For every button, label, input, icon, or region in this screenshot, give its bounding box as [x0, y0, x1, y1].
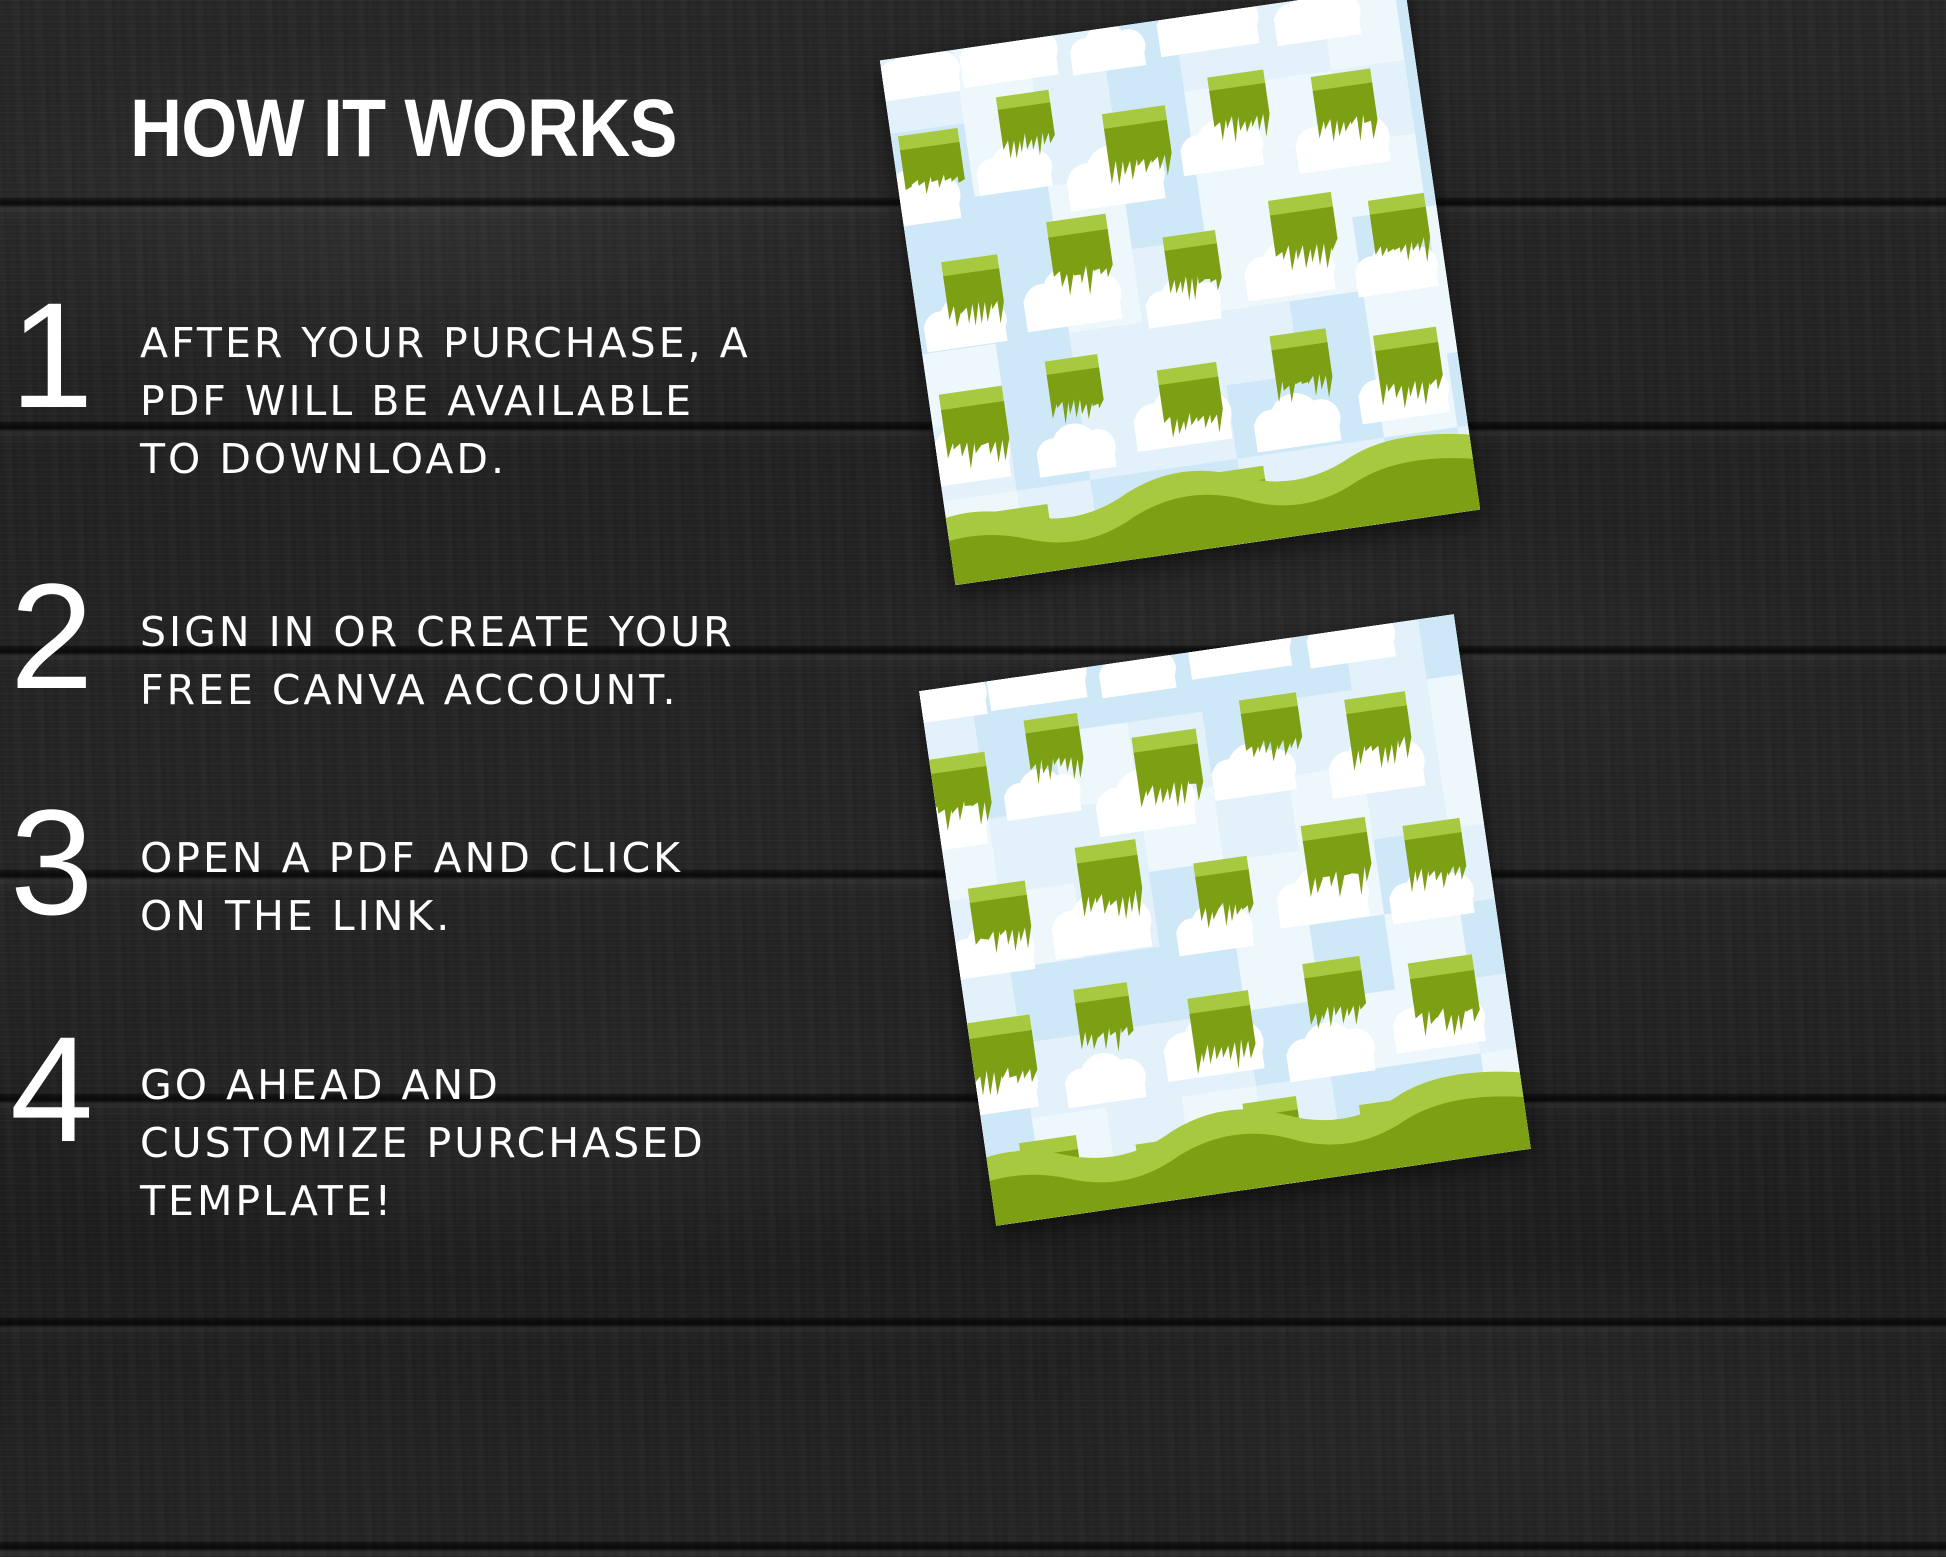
step-number-3: 3	[0, 793, 118, 933]
step-number-1: 1	[0, 286, 118, 426]
grass-cloud-pattern-1	[880, 0, 1480, 585]
grass-cloud-pattern-2	[919, 614, 1530, 1225]
step-item-2: 2 SIGN IN OR CREATE YOUR FREE CANVA ACCO…	[0, 567, 930, 719]
step-text-2: SIGN IN OR CREATE YOUR FREE CANVA ACCOUN…	[118, 567, 758, 719]
step-item-3: 3 OPEN A PDF AND CLICK ON THE LINK.	[0, 793, 930, 945]
steps-list: 1 AFTER YOUR PURCHASE, A PDF WILL BE AVA…	[0, 286, 930, 1230]
step-number-2: 2	[0, 567, 118, 707]
step-item-4: 4 GO AHEAD AND CUSTOMIZE PURCHASED TEMPL…	[0, 1020, 930, 1231]
step-text-3: OPEN A PDF AND CLICK ON THE LINK.	[118, 793, 758, 945]
step-item-1: 1 AFTER YOUR PURCHASE, A PDF WILL BE AVA…	[0, 286, 930, 489]
pattern-preview-card-2[interactable]	[919, 614, 1530, 1225]
step-number-4: 4	[0, 1020, 118, 1160]
step-text-4: GO AHEAD AND CUSTOMIZE PURCHASED TEMPLAT…	[118, 1020, 758, 1231]
step-text-1: AFTER YOUR PURCHASE, A PDF WILL BE AVAIL…	[118, 286, 758, 489]
instructions-column: HOW IT WORKS 1 AFTER YOUR PURCHASE, A PD…	[0, 0, 930, 1557]
page-title: HOW IT WORKS	[130, 88, 677, 170]
pattern-preview-card-1[interactable]	[880, 0, 1480, 585]
